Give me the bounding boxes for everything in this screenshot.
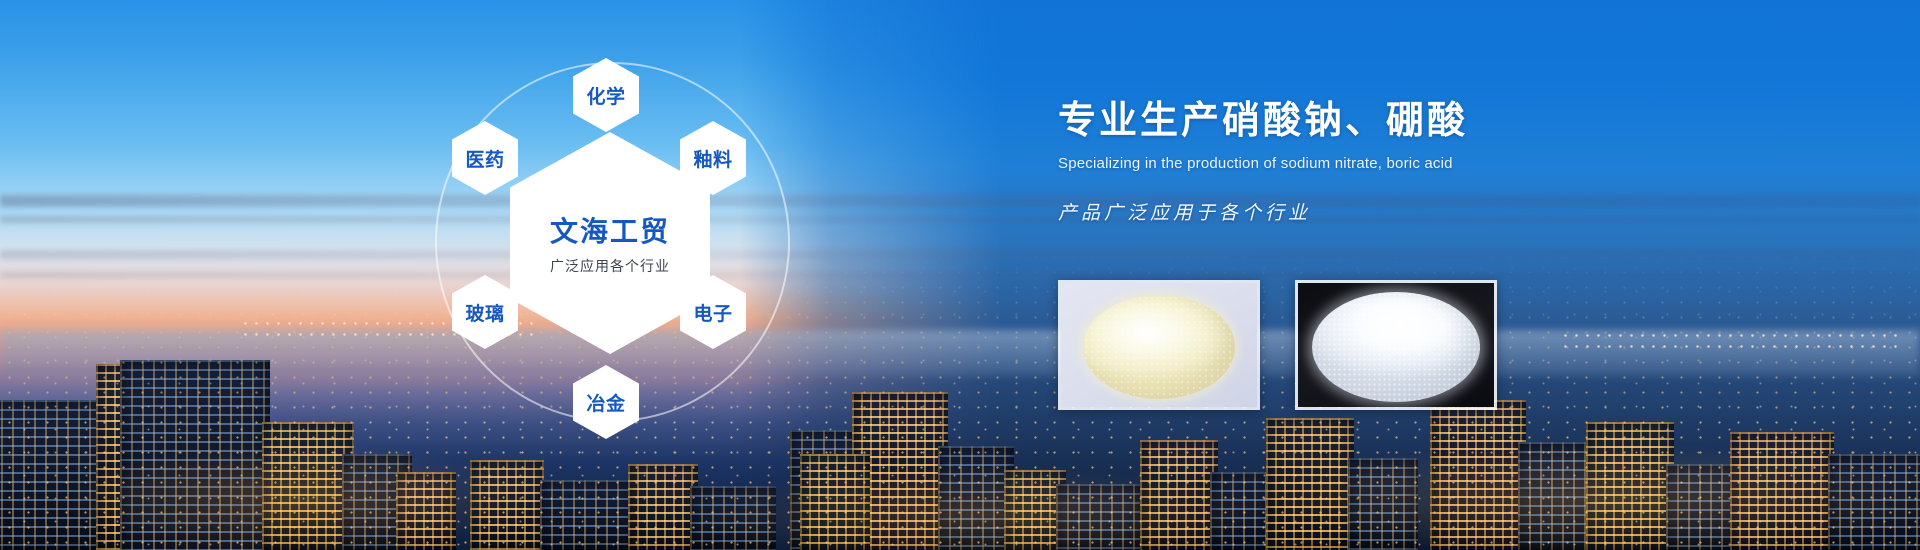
headline-text: 专业生产硝酸钠、硼酸 — [1058, 100, 1858, 144]
headline-subtitle-cn: 产品广泛应用于各个行业 — [1058, 198, 1858, 225]
promo-banner: 化学 釉料 电子 冶金 玻璃 医药 文海工贸 广泛应用各个行业 专业生产硝酸钠、… — [0, 0, 1920, 550]
hex-node-label: 釉料 — [693, 145, 732, 172]
hex-node-label: 化学 — [586, 82, 625, 109]
industry-hex-diagram: 化学 釉料 电子 冶金 玻璃 医药 文海工贸 广泛应用各个行业 — [430, 22, 800, 472]
company-tagline: 广泛应用各个行业 — [550, 256, 670, 276]
city-lights — [0, 250, 1920, 550]
powder-pile — [1312, 292, 1480, 402]
hex-node-label: 冶金 — [586, 389, 625, 416]
product-photo-boric-acid[interactable] — [1295, 280, 1497, 410]
company-name: 文海工贸 — [550, 210, 670, 250]
product-photo-sodium-nitrate[interactable] — [1058, 280, 1260, 410]
product-photo-strip — [1058, 280, 1497, 410]
powder-pile — [1083, 295, 1235, 399]
headline-block: 专业生产硝酸钠、硼酸 Specializing in the productio… — [1058, 100, 1858, 225]
hex-node-label: 玻璃 — [465, 299, 504, 326]
city-skyline — [0, 250, 1920, 550]
hex-node-label: 医药 — [465, 145, 504, 172]
headline-subtitle-en: Specializing in the production of sodium… — [1058, 155, 1858, 172]
